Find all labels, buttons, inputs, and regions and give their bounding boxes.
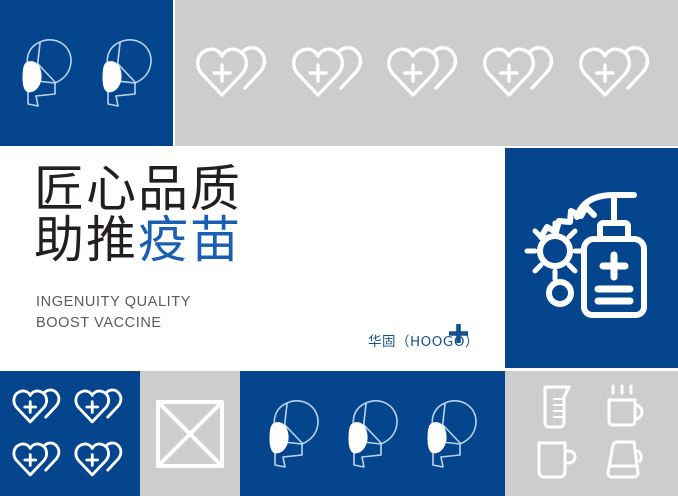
masked-head-icon <box>340 395 406 473</box>
double-heart-plus-icon <box>10 386 68 428</box>
headline-line-1: 匠心品质 <box>34 164 242 215</box>
subtitle-line-1: INGENUITY QUALITY <box>36 292 191 313</box>
brand-name: 华固（HOOGO） <box>368 330 479 350</box>
placeholder-wrap <box>140 371 240 496</box>
measuring-beaker-icon <box>537 383 577 431</box>
mask-icon-row-bottom <box>240 371 505 496</box>
top-gray-hearts-panel <box>175 0 678 146</box>
double-heart-plus-icon <box>479 43 565 103</box>
bottom-blue-hearts-panel <box>0 371 140 496</box>
broken-image-placeholder-icon <box>154 398 226 470</box>
headline-panel: 匠心品质 助推疫苗 INGENUITY QUALITY BOOST VACCIN… <box>0 148 505 368</box>
masked-head-icon <box>14 34 80 112</box>
headline-line-2-ink: 助推 <box>34 211 138 269</box>
masked-head-icon <box>419 395 485 473</box>
mug-icon <box>534 438 580 482</box>
kettle-icon <box>602 437 650 483</box>
top-blue-mask-panel <box>0 0 173 146</box>
bottom-gray-vessels-panel <box>505 371 678 496</box>
vessel-icon-grid <box>505 371 678 496</box>
bottom-blue-mask-panel <box>240 371 505 496</box>
steaming-cup-icon <box>603 383 649 431</box>
double-heart-plus-icon <box>10 439 68 481</box>
masked-head-icon <box>261 395 327 473</box>
subtitle-line-2: BOOST VACCINE <box>36 313 191 334</box>
masked-head-icon <box>94 34 160 112</box>
sanitizer-icon-group <box>505 148 678 368</box>
double-heart-plus-icon <box>575 43 661 103</box>
double-heart-plus-icon <box>192 43 278 103</box>
bottom-gray-placeholder-panel <box>140 371 240 496</box>
poster-canvas: 匠心品质 助推疫苗 INGENUITY QUALITY BOOST VACCIN… <box>0 0 678 496</box>
heart-icon-grid <box>0 371 140 496</box>
subtitle-block: INGENUITY QUALITY BOOST VACCINE <box>36 292 191 334</box>
hand-sanitizer-bottle-icon <box>522 183 662 333</box>
headline-line-2: 助推疫苗 <box>34 215 242 266</box>
double-heart-plus-icon <box>383 43 469 103</box>
sanitizer-panel <box>505 148 678 368</box>
double-heart-plus-icon <box>72 439 130 481</box>
double-heart-plus-icon <box>288 43 374 103</box>
heart-icon-row <box>175 0 678 146</box>
headline-line-2-accent: 疫苗 <box>138 211 242 269</box>
double-heart-plus-icon <box>72 386 130 428</box>
mask-icon-row <box>0 0 173 146</box>
headline-block: 匠心品质 助推疫苗 <box>34 164 242 266</box>
